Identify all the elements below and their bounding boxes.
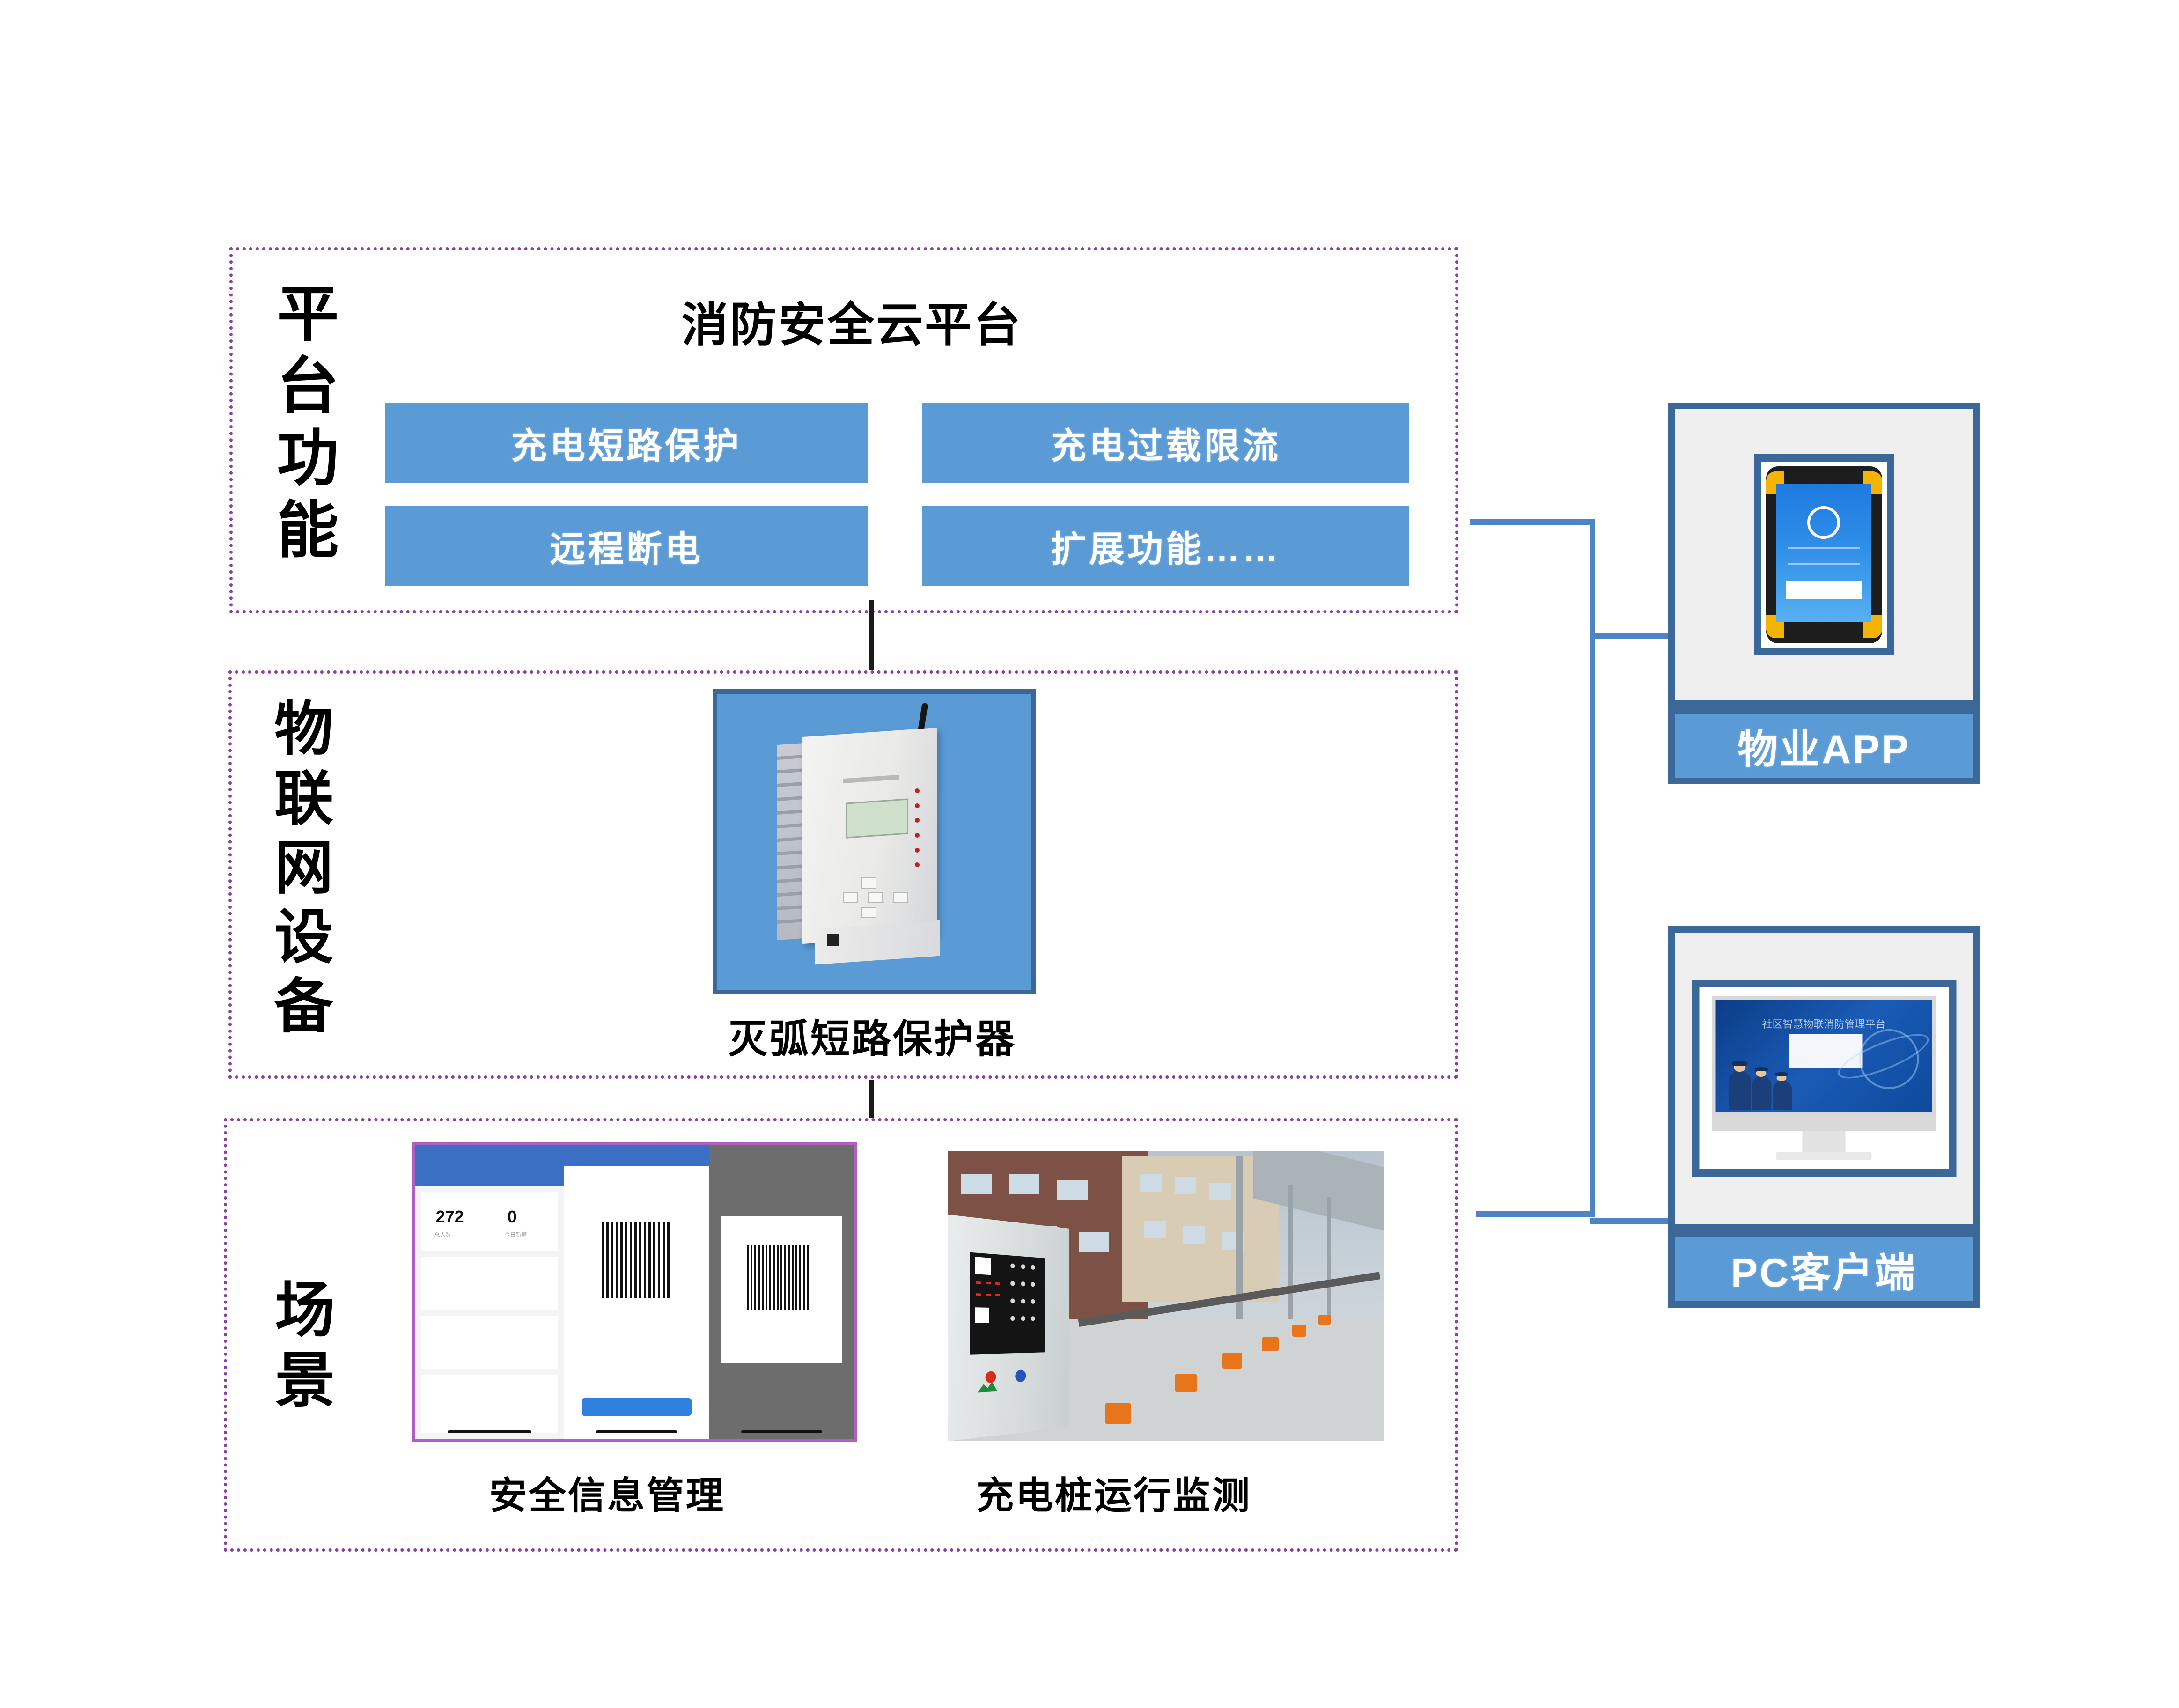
pc-login-title: 社区智慧物联消防管理平台: [1762, 1016, 1885, 1031]
parking-stop: [1105, 1403, 1131, 1424]
charging-pile-cabinet: [948, 1215, 1069, 1441]
monitor-foot: [1776, 1152, 1872, 1160]
property-app-card[interactable]: [1668, 403, 1980, 707]
status-led: [915, 848, 920, 853]
status-bar: [564, 1145, 709, 1166]
parking-stop: [1262, 1337, 1279, 1351]
home-indicator: [596, 1430, 677, 1433]
brand-badge-icon: [1015, 1369, 1026, 1382]
status-led: [915, 803, 920, 808]
tools-card: [421, 1316, 558, 1369]
platform-section-label: 平台功能: [272, 281, 333, 581]
desktop-monitor-icon: 社区智慧物联消防管理平台: [1692, 980, 1956, 1177]
charging-pile-monitoring-photo: [948, 1151, 1384, 1441]
send-to-wechat-button[interactable]: [582, 1398, 692, 1416]
iot-section-label: 物联网设备: [269, 698, 328, 1053]
pc-client-label: PC客户端: [1668, 1230, 1980, 1308]
safety-info-management-screenshot: 272 0 总人数 今日新增: [412, 1142, 857, 1442]
total-customers-value: 272: [436, 1207, 464, 1227]
device-key: [843, 892, 858, 903]
charging-pile-scene: [948, 1151, 1384, 1441]
platform-title: 消防安全云平台: [681, 287, 1022, 354]
members-card: [421, 1257, 558, 1310]
qr-code-icon: [747, 1245, 810, 1310]
scene-section-label: 场景: [269, 1278, 329, 1433]
rugged-phone-icon: [1754, 454, 1894, 655]
phone-screen-send-dialog: [709, 1145, 854, 1439]
device-key: [861, 877, 876, 889]
property-app-label: 物业APP: [1668, 707, 1980, 784]
pc-client-card[interactable]: 社区智慧物联消防管理平台: [1668, 926, 1980, 1230]
connector-branch-to-app: [1590, 633, 1669, 639]
recent-groups-card: [421, 1375, 558, 1434]
qr-code-icon: [602, 1222, 671, 1298]
phone-screen-qr: [564, 1145, 709, 1439]
device-key: [893, 892, 908, 903]
connector-branch-to-pc: [1590, 1218, 1669, 1224]
phone-screen-contacts: 272 0 总人数 今日新增: [415, 1145, 564, 1439]
feature-remote-power-off[interactable]: 远程断电: [385, 506, 868, 586]
feature-extended-functions[interactable]: 扩展功能……: [922, 506, 1409, 586]
today-new-value: 0: [508, 1207, 517, 1227]
total-customers-label: 总人数: [434, 1230, 451, 1238]
phone-screenshots: 272 0 总人数 今日新增: [415, 1145, 854, 1439]
connector-iot-to-scene: [869, 1080, 874, 1119]
home-indicator: [448, 1430, 531, 1433]
device-key: [868, 892, 883, 903]
connector-branch-to-scene: [1476, 1211, 1595, 1217]
feature-short-circuit-protection[interactable]: 充电短路保护: [385, 403, 868, 483]
device-heatsink: [777, 743, 805, 940]
officers-photo: [1729, 1058, 1794, 1110]
connector-vertical-trunk: [1590, 519, 1595, 1217]
parking-stop: [1222, 1353, 1242, 1369]
arc-protector-caption: 灭弧短路保护器: [728, 1008, 1016, 1064]
parking-stop: [1318, 1315, 1331, 1325]
charging-pile-monitoring-caption: 充电桩运行监测: [976, 1465, 1251, 1520]
arc-protector-device-image: [713, 689, 1036, 994]
today-new-label: 今日新增: [504, 1230, 527, 1238]
connector-platform-branch: [1470, 519, 1594, 525]
qr-code-icon: [827, 934, 839, 946]
safety-info-management-caption: 安全信息管理: [489, 1465, 725, 1520]
login-button[interactable]: [1786, 581, 1862, 599]
home-indicator: [741, 1430, 822, 1433]
status-bar: [415, 1145, 564, 1166]
device-lcd-screen: [846, 798, 908, 838]
brand-sun-icon: [985, 1371, 996, 1383]
brand-logo-icon: [978, 1382, 997, 1393]
connector-platform-to-iot: [869, 600, 874, 675]
nav-bar: [415, 1166, 564, 1186]
device-key: [861, 907, 876, 918]
monitor-chin: [1712, 1116, 1936, 1131]
arc-protector-illustration: [717, 694, 1031, 990]
qr-code-icon: [975, 1308, 989, 1323]
feature-overload-current-limit[interactable]: 充电过载限流: [922, 403, 1409, 483]
monitor-stand: [1803, 1131, 1846, 1152]
pile-control-panel: [970, 1252, 1045, 1355]
monitor-screen: 社区智慧物联消防管理平台: [1712, 996, 1936, 1116]
parking-stop: [1292, 1325, 1306, 1337]
app-logo-icon: [1807, 506, 1840, 539]
parking-stop: [1175, 1374, 1197, 1392]
qr-code-icon: [975, 1257, 991, 1275]
